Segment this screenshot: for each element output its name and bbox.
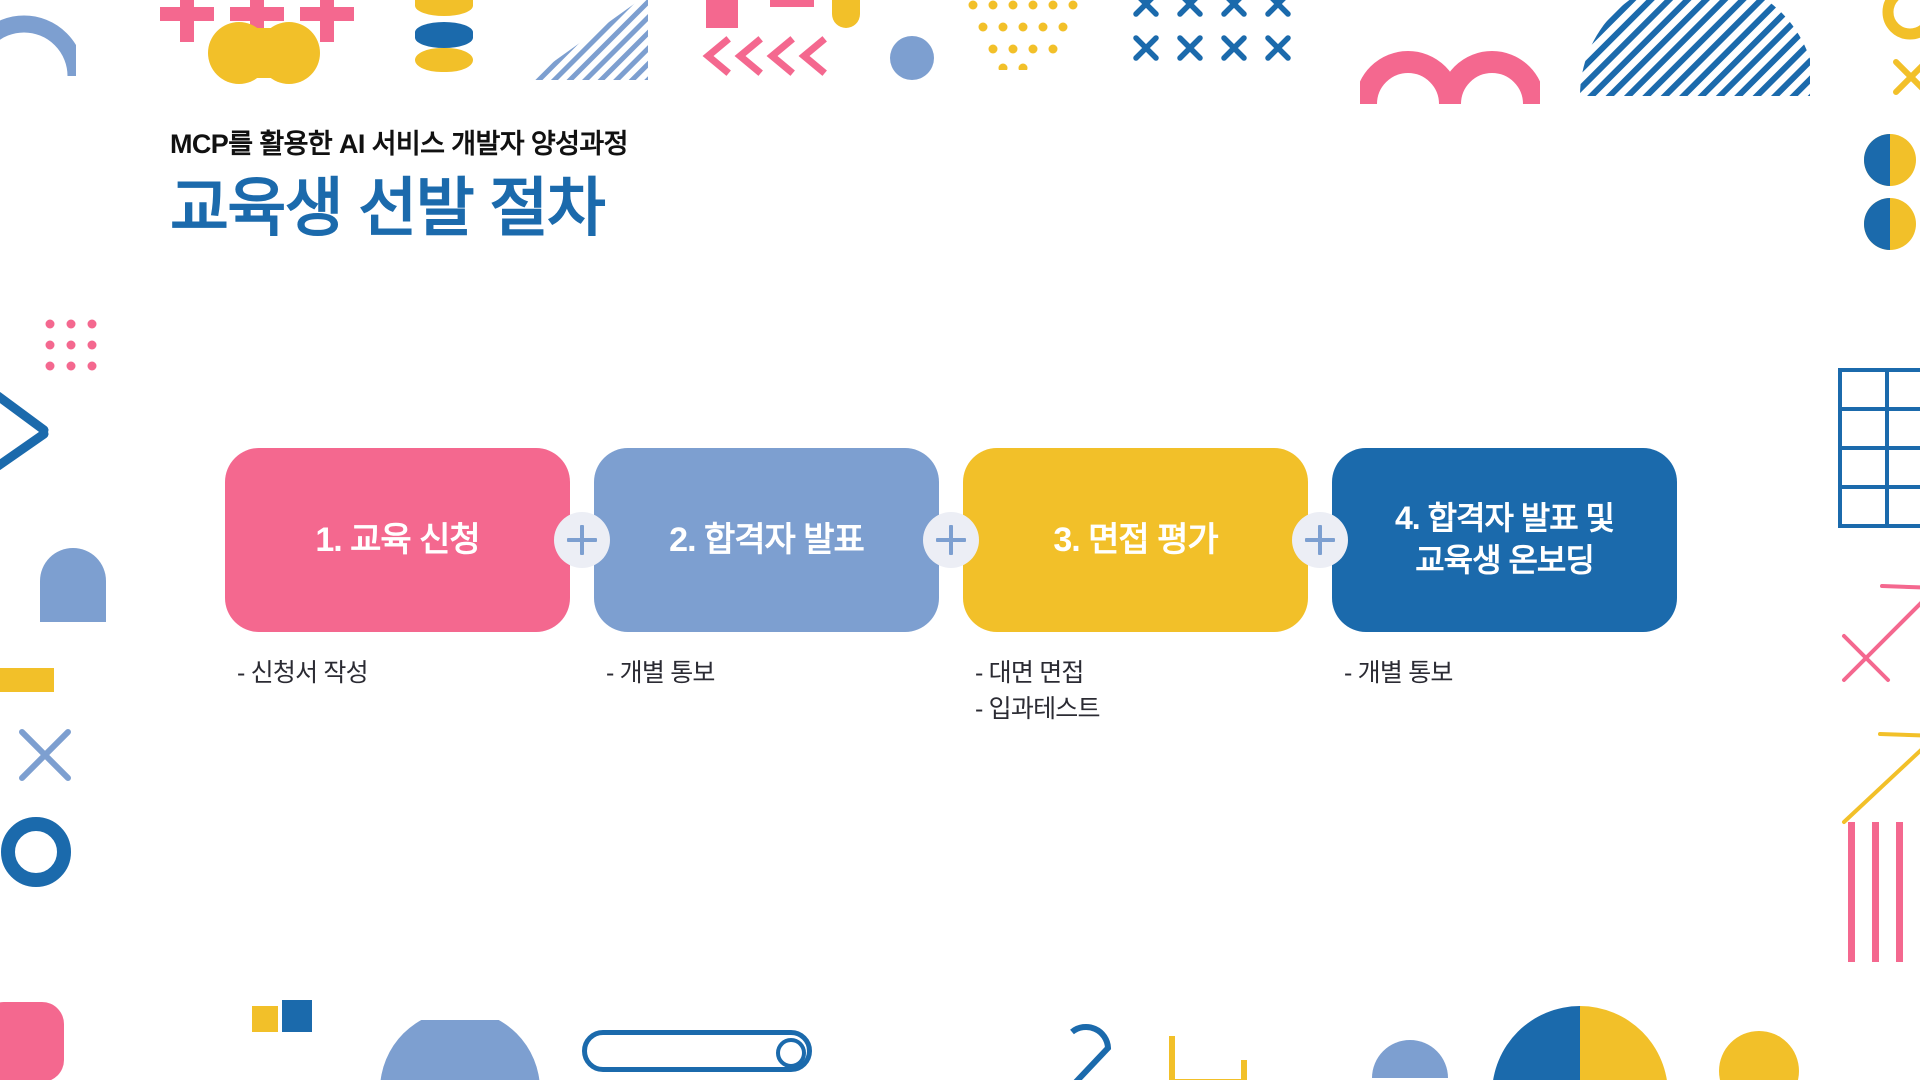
process-step-3-label: 3. 면접 평가 [1053, 518, 1217, 562]
process-caption-1: - 신청서 작성 [225, 655, 570, 728]
caption-line: - 신청서 작성 [225, 655, 570, 691]
hatched-quarter-circle-shape [1580, 0, 1810, 96]
page-header: MCP를 활용한 AI 서비스 개발자 양성과정 교육생 선발 절차 [170, 128, 628, 244]
pie-shape-bottom [1492, 1004, 1668, 1080]
arc-shape-topleft [0, 0, 76, 80]
cross-shape-pink-1 [160, 0, 214, 42]
pie-shape-right-1 [1862, 132, 1918, 188]
bar-shape-yellow-left [0, 668, 54, 692]
ring-shape-topright [1880, 0, 1920, 42]
course-subtitle: MCP를 활용한 AI 서비스 개발자 양성과정 [170, 128, 628, 160]
process-caption-4: - 개별 통보 [1332, 655, 1677, 728]
caption-spacer [570, 655, 594, 728]
plus-icon [1292, 512, 1348, 568]
plus-icon [923, 512, 979, 568]
plus-icon [554, 512, 610, 568]
dash-shape-pink [770, 0, 814, 7]
chevron-shapes-pink [700, 35, 840, 77]
pill-shape-blue-bottom [582, 1030, 812, 1072]
slide-root: MCP를 활용한 AI 서비스 개발자 양성과정 교육생 선발 절차 1. 교육… [0, 0, 1920, 1080]
process-step-1-label: 1. 교육 신청 [315, 518, 479, 562]
rounded-square-shape-pink-left [0, 1002, 64, 1080]
x-mark-shape-yellow-right [1886, 52, 1920, 102]
cross-shape-pink-3 [300, 0, 354, 42]
small-square-shape-blue-bottom [282, 1000, 312, 1032]
caption-line: - 개별 통보 [594, 655, 939, 691]
small-square-shape-yellow-bottom [252, 1006, 278, 1032]
cylinder-shape-yellow-2 [415, 48, 473, 72]
arc-shape-blue-bottom [380, 1020, 540, 1080]
process-flow: 1. 교육 신청 2. 합격자 발표 3. 면접 평가 4. 합격자 발표 및 … [225, 448, 1677, 632]
hatched-triangle-shape [528, 0, 648, 80]
half-circle-shape-blue-bottom [1372, 1030, 1448, 1078]
caption-spacer [1308, 655, 1332, 728]
process-step-4-label-line1: 4. 합격자 발표 및 [1395, 500, 1614, 536]
process-step-2-label: 2. 합격자 발표 [669, 518, 864, 562]
grid-shape-right [1838, 368, 1920, 528]
circle-outline-shape-bottom [774, 1036, 808, 1070]
notch-shape-yellow [832, 0, 860, 28]
caption-line: - 입과테스트 [963, 691, 1308, 727]
cylinder-shape-yellow [415, 0, 473, 16]
cylinder-shape-blue [415, 22, 473, 48]
bar-shape-pink-right-3 [1896, 822, 1903, 962]
sparkle-shape-pink-right [1836, 578, 1920, 688]
step-shape-yellow-bottom [1168, 1032, 1248, 1080]
circle-shape-blue [890, 36, 934, 80]
star-shape-blue-left [0, 388, 68, 478]
arch-shape-blue-left [40, 548, 106, 622]
x-mark-shape-blue-left [14, 724, 76, 786]
double-arch-shape-pink [1360, 34, 1540, 104]
swirl-shape-blue-bottom [1064, 1018, 1118, 1080]
process-step-1[interactable]: 1. 교육 신청 [225, 448, 570, 632]
ring-shape-blue-left [0, 812, 76, 892]
sparkle-shape-yellow-right [1836, 730, 1920, 830]
page-title: 교육생 선발 절차 [170, 174, 628, 243]
caption-line: - 대면 면접 [963, 655, 1308, 691]
bar-shape-pink-right-1 [1848, 822, 1855, 962]
caption-spacer [939, 655, 963, 728]
blob-shape-yellow [208, 22, 320, 84]
process-step-2[interactable]: 2. 합격자 발표 [594, 448, 939, 632]
process-captions: - 신청서 작성 - 개별 통보 - 대면 면접 - 입과테스트 - 개별 통보 [225, 655, 1677, 728]
process-step-3[interactable]: 3. 면접 평가 [963, 448, 1308, 632]
dotgrid-shape-yellow [968, 0, 1078, 70]
process-caption-2: - 개별 통보 [594, 655, 939, 728]
process-step-4[interactable]: 4. 합격자 발표 및 교육생 온보딩 [1332, 448, 1677, 632]
pie-shape-right-2 [1862, 196, 1918, 252]
x-marks-shape-blue [1130, 0, 1300, 68]
process-step-4-label-line2: 교육생 온보딩 [1415, 542, 1594, 578]
cross-shape-pink-2 [230, 0, 284, 42]
process-caption-3: - 대면 면접 - 입과테스트 [963, 655, 1308, 728]
caption-line: - 개별 통보 [1332, 655, 1677, 691]
dotgrid-shape-pink-left [44, 318, 98, 372]
square-shape-pink [706, 0, 738, 28]
bar-shape-pink-right-2 [1872, 822, 1879, 962]
circle-shape-yellow-bottom [1716, 1026, 1802, 1080]
